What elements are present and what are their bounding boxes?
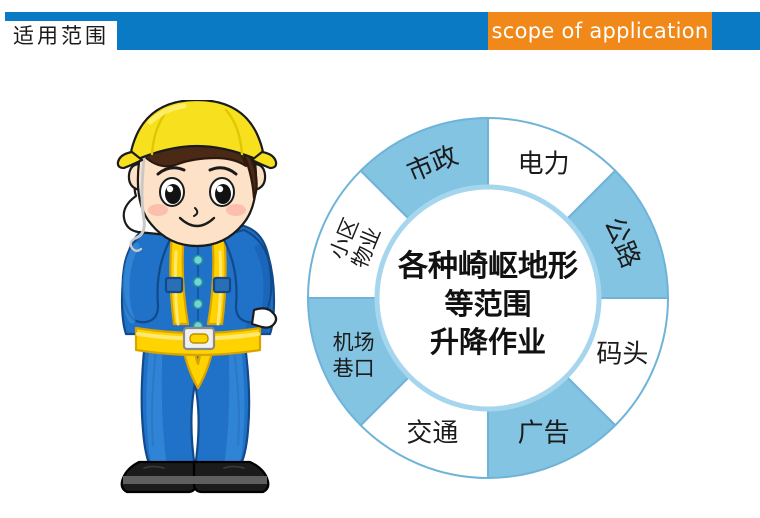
- svg-text:电力: 电力: [518, 150, 570, 180]
- header-subtitle-badge: scope of application: [488, 12, 712, 50]
- donut-segment-label-0: 电力: [518, 150, 570, 180]
- donut-center-line-0: 各种崎岖地形: [397, 249, 578, 284]
- donut-segment-label-4: 交通: [406, 418, 458, 448]
- worker-mascot-illustration: [92, 100, 302, 495]
- svg-text:交通: 交通: [406, 418, 458, 448]
- donut-segment-label-3: 广告: [518, 418, 570, 448]
- slide-canvas: 适用范围 scope of application: [0, 0, 760, 518]
- svg-text:码头: 码头: [596, 340, 648, 370]
- page-title: 适用范围: [5, 21, 117, 51]
- hand-right: [252, 308, 276, 327]
- svg-text:巷口: 巷口: [333, 357, 375, 381]
- svg-text:机场: 机场: [333, 331, 375, 355]
- scope-donut-chart: 电力公路码头广告交通机场巷口小区物业市政 各种崎岖地形等范围升降作业: [303, 113, 673, 483]
- donut-center-line-2: 升降作业: [430, 325, 546, 359]
- donut-segment-label-2: 码头: [596, 340, 648, 370]
- donut-center-line-1: 等范围: [444, 287, 531, 321]
- svg-text:广告: 广告: [518, 418, 570, 448]
